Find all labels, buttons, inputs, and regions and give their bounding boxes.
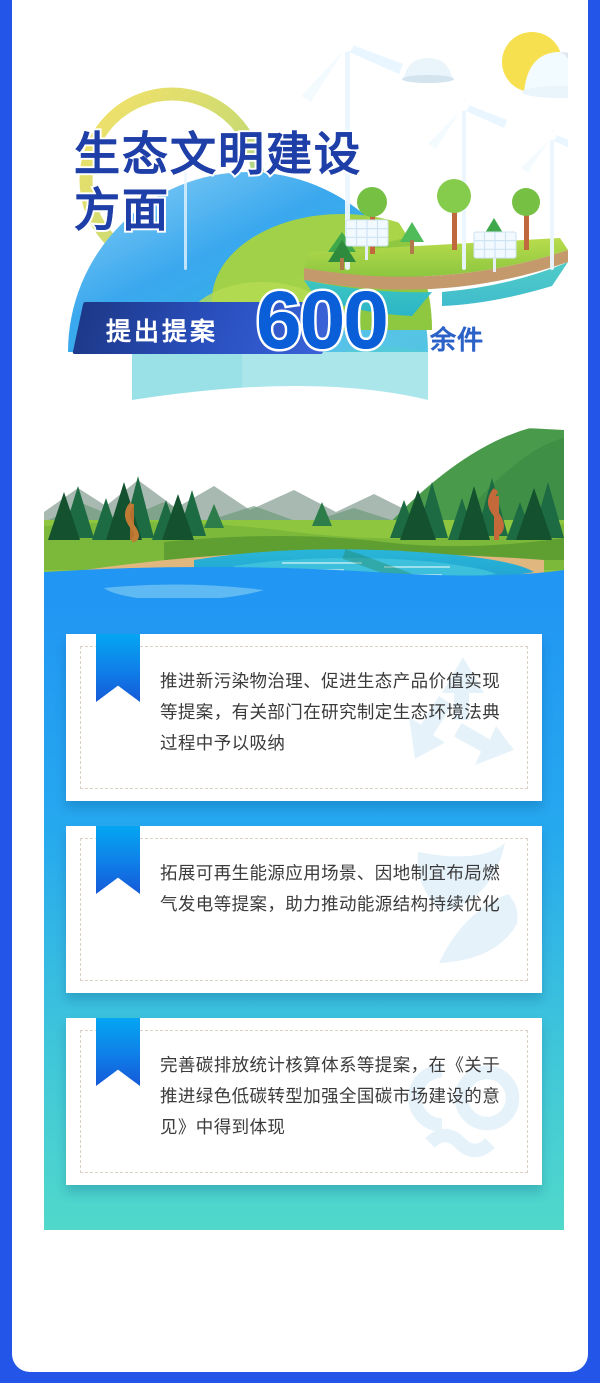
pine-trees-icon (48, 476, 206, 540)
stat-badge-number-fill: 600 (256, 280, 387, 362)
card-text: 完善碳排放统计核算体系等提案，在《关于推进绿色低碳转型加强全国碳市场建设的意见》… (160, 1050, 516, 1143)
card-text: 拓展可再生能源应用场景、因地制宜布局燃气发电等提案，助力推动能源结构持续优化 (160, 858, 516, 920)
list-item[interactable]: 拓展可再生能源应用场景、因地制宜布局燃气发电等提案，助力推动能源结构持续优化 (66, 826, 542, 993)
stat-badge-label: 提出提案 (106, 312, 218, 348)
page-title-fill: 生态文明建设 方面 (74, 126, 362, 238)
cloud-icon (402, 58, 454, 83)
forest-lake-illustration (44, 420, 564, 615)
scene-body (44, 422, 564, 615)
cards-panel: 推进新污染物治理、促进生态产品价值实现等提案，有关部门在研究制定生态环境法典过程… (44, 598, 564, 1230)
stat-badge-unit-fill: 余件 (430, 320, 484, 357)
card-text: 推进新污染物治理、促进生态产品价值实现等提案，有关部门在研究制定生态环境法典过程… (160, 666, 516, 759)
list-item[interactable]: 完善碳排放统计核算体系等提案，在《关于推进绿色低碳转型加强全国碳市场建设的意见》… (66, 1018, 542, 1185)
content-sheet: 生态文明建设 方面 生态文明建设 方面 提出提案 600 600 余件 余件 (12, 0, 588, 1372)
list-item[interactable]: 推进新污染物治理、促进生态产品价值实现等提案，有关部门在研究制定生态环境法典过程… (66, 634, 542, 801)
page-frame: 生态文明建设 方面 生态文明建设 方面 提出提案 600 600 余件 余件 (0, 0, 600, 1383)
stat-badge: 提出提案 600 600 余件 余件 (78, 302, 518, 354)
hero-banner: 生态文明建设 方面 生态文明建设 方面 提出提案 600 600 余件 余件 (12, 0, 588, 420)
